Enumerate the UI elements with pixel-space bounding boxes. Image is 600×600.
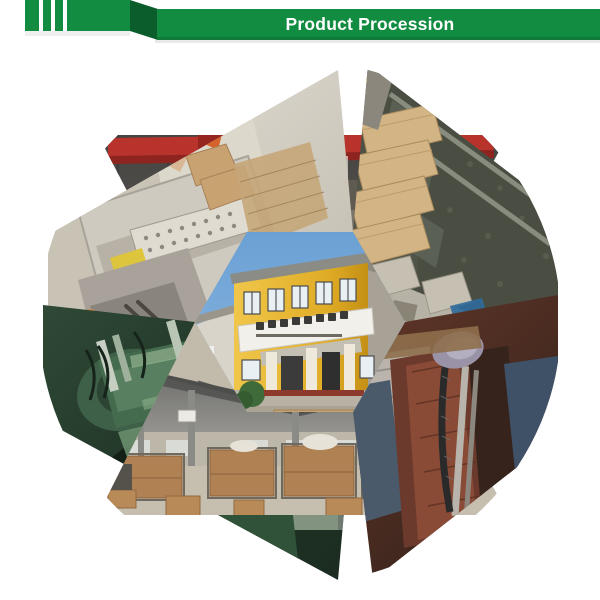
- header-banner: Product Procession: [0, 0, 600, 52]
- banner-shadow-left: [25, 31, 130, 36]
- banner-right-edge: [157, 37, 600, 40]
- page-title: Product Procession: [160, 11, 580, 37]
- page-root: Product Procession: [0, 0, 600, 600]
- banner-stripe-2: [51, 0, 55, 31]
- banner-fold-facet: [130, 0, 158, 40]
- collage-graphic: [38, 60, 562, 584]
- banner-left-band: [25, 0, 130, 31]
- banner-stripe-3: [63, 0, 67, 31]
- banner-stripe-1: [39, 0, 43, 31]
- photo-collage: [38, 60, 562, 584]
- collage-circle: [38, 60, 562, 584]
